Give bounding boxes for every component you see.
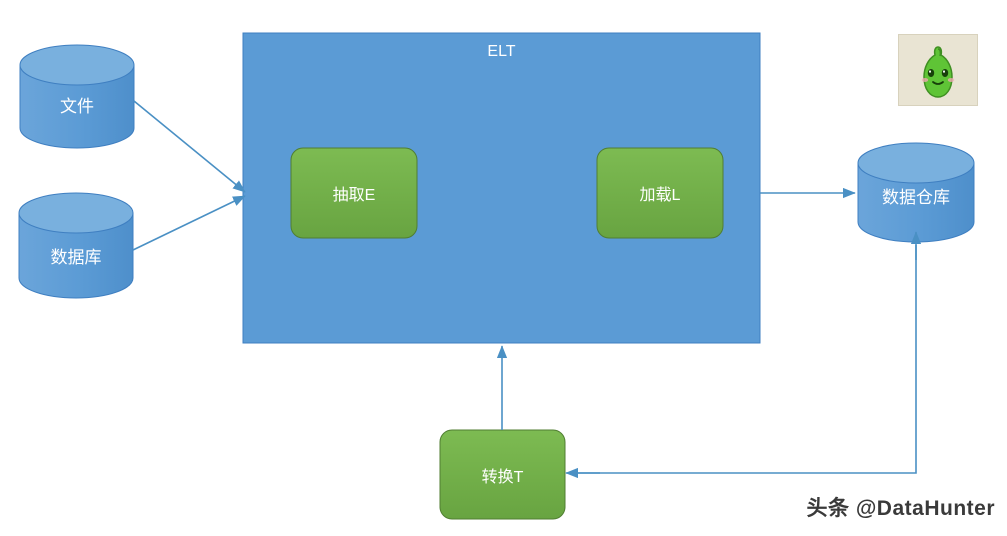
- connector-database-to-elt: [133, 196, 245, 250]
- process-extract-shape: [291, 148, 417, 238]
- pear-avatar-icon: [898, 34, 978, 106]
- watermark-label: 头条 @DataHunter: [807, 492, 996, 522]
- cylinder-database-shape: [19, 193, 133, 298]
- diagram-vector-layer: [0, 0, 1007, 536]
- cylinder-file-shape: [20, 45, 134, 148]
- cylinder-data-warehouse-shape: [858, 143, 974, 242]
- process-load-shape: [597, 148, 723, 238]
- diagram-canvas: ELT 文件 数据库 数据仓库 抽取E 加载L 转换T 头条 @DataHunt…: [0, 0, 1007, 536]
- pear-avatar-glyph: [899, 35, 977, 105]
- process-transform-shape: [440, 430, 565, 519]
- connector-file-to-elt: [134, 101, 245, 192]
